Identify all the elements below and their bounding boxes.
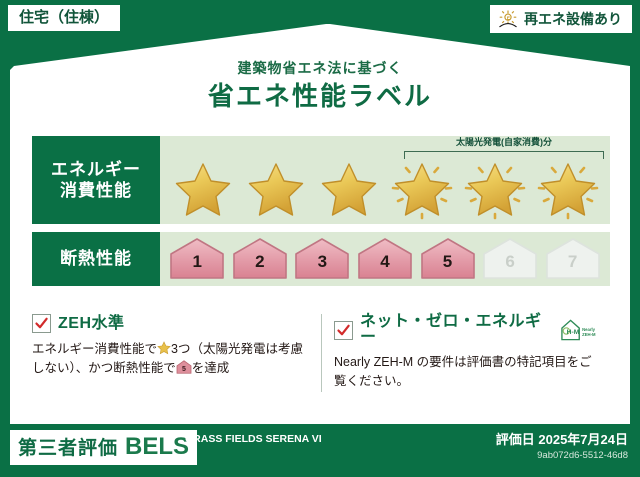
insulation-level-number: 2: [231, 253, 289, 270]
star-icon: [316, 158, 382, 220]
evaluation-date-value: 2025年7月24日: [538, 432, 628, 447]
star-icon: [170, 158, 236, 220]
insulation-row-body: 1234567: [160, 232, 610, 286]
check-icon: [336, 323, 351, 338]
evaluation-id: 9ab072d6-5512-46d8: [537, 450, 628, 461]
renewable-badge-label: 再エネ設備あり: [524, 12, 622, 26]
solar-bracket-note: 太陽光発電(自家消費)分: [404, 138, 604, 148]
insulation-row-label: 断熱性能: [32, 232, 160, 286]
bels-en-label: BELS: [125, 435, 189, 459]
zeh-body-part1: エネルギー消費性能で: [32, 342, 157, 356]
solar-star-icon: [535, 158, 601, 220]
title-subtitle: 建築物省エネ法に基づく: [10, 60, 630, 77]
insulation-level-number: 6: [481, 253, 539, 270]
zeh-note-title: ZEH水準: [58, 316, 125, 332]
nze-checkbox[interactable]: [334, 321, 353, 340]
insulation-level-7: 7: [544, 237, 602, 281]
bels-chip: 第三者評価 BELS: [10, 430, 197, 465]
energy-label-line2: 消費性能: [60, 180, 132, 201]
label-footer: 第三者評価 BELS GRASS FIELDS SERENA VI 評価日 20…: [0, 424, 640, 477]
label-panel: 建築物省エネ法に基づく 省エネ性能ラベル エネルギー 消費性能 太陽光発電(自家…: [10, 24, 630, 424]
insulation-level-2: 2: [231, 237, 289, 281]
house-type-chip: 住宅（住棟）: [8, 5, 120, 31]
insulation-level-6: 6: [481, 237, 539, 281]
zeh-note: ZEH水準 エネルギー消費性能で3つ（太陽光発電は考慮しない）、かつ断熱性能で5…: [32, 314, 321, 392]
title-main: 省エネ性能ラベル: [10, 80, 630, 113]
zeh-m-caption-line2: ZEH-M: [582, 332, 596, 337]
inline-star-icon: [157, 341, 171, 355]
zeh-body-part3: を達成: [192, 361, 230, 375]
evaluation-date-label: 評価日: [496, 432, 535, 447]
star-icon: [243, 158, 309, 220]
insulation-level-scale: 1234567: [160, 232, 610, 286]
insulation-level-number: 7: [544, 253, 602, 270]
notes-section: ZEH水準 エネルギー消費性能で3つ（太陽光発電は考慮しない）、かつ断熱性能で5…: [32, 314, 610, 392]
insulation-level-number: 3: [293, 253, 351, 270]
zeh-checkbox[interactable]: [32, 314, 51, 333]
insulation-performance-row: 断熱性能 1234567: [32, 232, 610, 286]
renewable-equipment-badge: E 再エネ設備あり: [490, 5, 632, 33]
zeh-note-body: エネルギー消費性能で3つ（太陽光発電は考慮しない）、かつ断熱性能で5を達成: [32, 340, 309, 379]
insulation-level-number: 4: [356, 253, 414, 270]
solar-star-icon: [462, 158, 528, 220]
sun-icon: E: [497, 9, 519, 29]
nze-note-title: ネット・ゼロ・エネルギー: [360, 314, 551, 346]
label-title: 建築物省エネ法に基づく 省エネ性能ラベル: [10, 60, 630, 112]
energy-label-line1: エネルギー: [51, 159, 141, 180]
insulation-level-3: 3: [293, 237, 351, 281]
svg-text:H-M: H-M: [566, 329, 579, 336]
nze-note-header: ネット・ゼロ・エネルギー H-M Nearly ZEH-M: [334, 314, 598, 346]
svg-text:E: E: [507, 15, 511, 21]
zeh-note-header: ZEH水準: [32, 314, 309, 333]
solar-star-icon: [389, 158, 455, 220]
property-name: GRASS FIELDS SERENA VI: [185, 433, 425, 446]
energy-star-rating: [160, 156, 610, 222]
insulation-level-1: 1: [168, 237, 226, 281]
energy-performance-row: エネルギー 消費性能 太陽光発電(自家消費)分: [32, 136, 610, 224]
bels-jp-label: 第三者評価: [18, 439, 118, 458]
rating-rows: エネルギー 消費性能 太陽光発電(自家消費)分 断熱性能 1234567: [32, 136, 610, 294]
inline-house-level-icon: 5: [176, 360, 192, 374]
nze-note-body: Nearly ZEH-M の要件は評価書の特記項目をご覧ください。: [334, 353, 598, 392]
svg-text:5: 5: [182, 366, 186, 373]
net-zero-energy-note: ネット・ゼロ・エネルギー H-M Nearly ZEH-M Nearly ZEH…: [321, 314, 610, 392]
energy-row-body: 太陽光発電(自家消費)分: [160, 136, 610, 224]
energy-row-label: エネルギー 消費性能: [32, 136, 160, 224]
insulation-level-number: 1: [168, 253, 226, 270]
zeh-m-caption-line1: Nearly: [582, 327, 596, 332]
insulation-label: 断熱性能: [60, 248, 132, 269]
insulation-level-5: 5: [419, 237, 477, 281]
evaluation-date: 評価日 2025年7月24日: [496, 432, 628, 448]
insulation-level-4: 4: [356, 237, 414, 281]
zeh-m-logo-icon: H-M Nearly ZEH-M: [560, 317, 598, 343]
energy-performance-label: 住宅（住棟） E 再エネ設備あり 建築物省エネ法に基づく 省エネ性能ラベル: [0, 0, 640, 477]
insulation-level-number: 5: [419, 253, 477, 270]
check-icon: [34, 316, 49, 331]
